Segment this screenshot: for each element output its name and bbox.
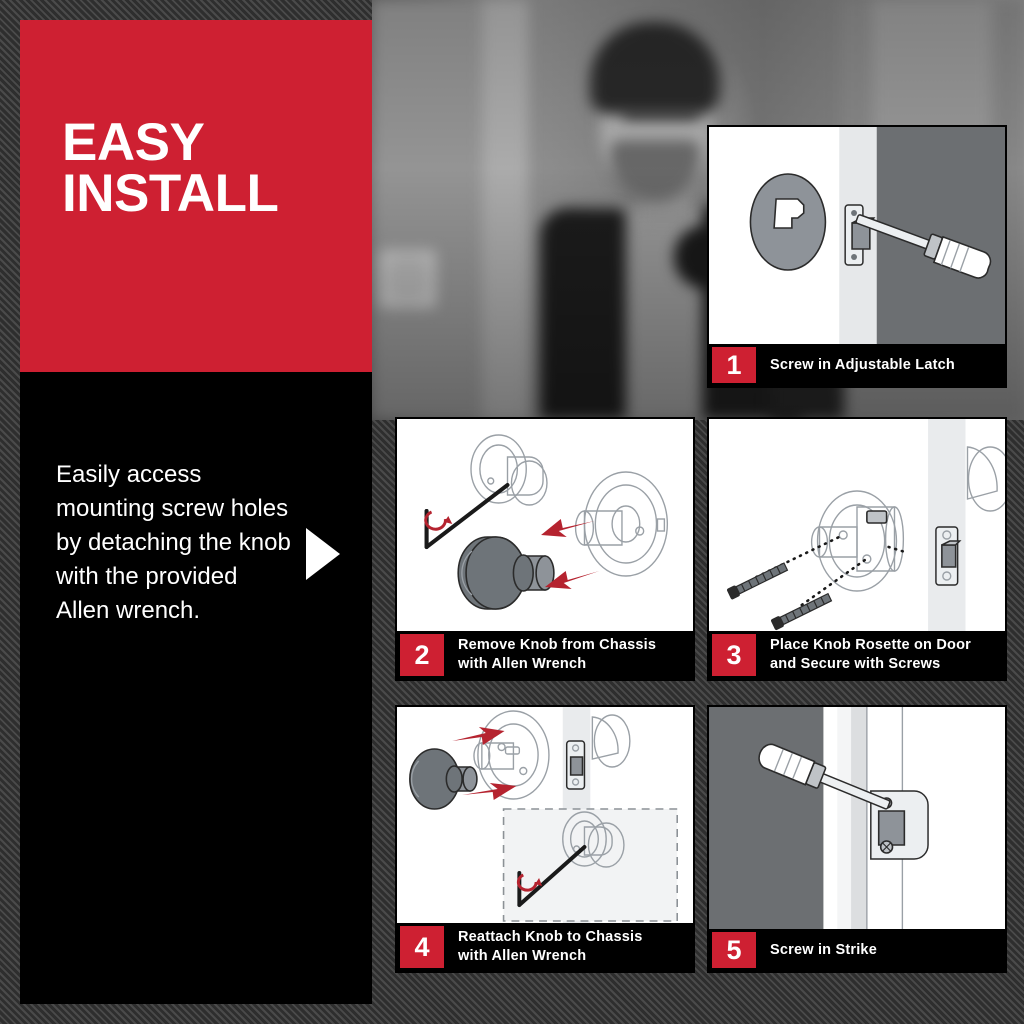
step-4-label-line-1: Reattach Knob to Chassis [458, 928, 693, 947]
step-panel-1: 1 Screw in Adjustable Latch [707, 125, 1007, 388]
step-panel-2: 2 Remove Knob from Chassis with Allen Wr… [395, 417, 695, 681]
play-triangle-icon [306, 528, 340, 580]
step-2-caption: 2 Remove Knob from Chassis with Allen Wr… [397, 631, 693, 679]
step-2-number: 2 [400, 634, 444, 676]
step-4-caption: 4 Reattach Knob to Chassis with Allen Wr… [397, 923, 693, 971]
step-4-number: 4 [400, 926, 444, 968]
infographic-root: EASY INSTALL Easily access mounting scre… [0, 0, 1024, 1024]
step-5-label-line-1: Screw in Strike [770, 941, 1005, 960]
step-panel-4: 4 Reattach Knob to Chassis with Allen Wr… [395, 705, 695, 973]
step-5-number: 5 [712, 932, 756, 968]
page-title: EASY INSTALL [62, 118, 362, 220]
step-3-caption: 3 Place Knob Rosette on Door and Secure … [709, 631, 1005, 679]
step-5-caption: 5 Screw in Strike [709, 929, 1005, 971]
step-5-illustration [709, 707, 1005, 931]
headline-line-1: EASY [62, 118, 362, 169]
step-2-illustration [397, 419, 693, 633]
step-3-label-line-1: Place Knob Rosette on Door [770, 636, 1005, 655]
step-3-number: 3 [712, 634, 756, 676]
step-2-label-line-2: with Allen Wrench [458, 655, 693, 674]
step-1-caption: 1 Screw in Adjustable Latch [709, 344, 1005, 386]
step-3-illustration [709, 419, 1005, 633]
headline-line-2: INSTALL [62, 169, 362, 220]
step-panel-5: 5 Screw in Strike [707, 705, 1007, 973]
step-4-label-line-2: with Allen Wrench [458, 947, 693, 966]
description-text: Easily access mounting screw holes by de… [56, 458, 296, 628]
step-1-illustration [709, 127, 1005, 344]
step-1-label-line-1: Screw in Adjustable Latch [770, 356, 1005, 375]
step-panel-3: 3 Place Knob Rosette on Door and Secure … [707, 417, 1007, 681]
step-2-label-line-1: Remove Knob from Chassis [458, 636, 693, 655]
step-4-illustration [397, 707, 693, 925]
step-1-number: 1 [712, 347, 756, 383]
step-3-label-line-2: and Secure with Screws [770, 655, 1005, 674]
